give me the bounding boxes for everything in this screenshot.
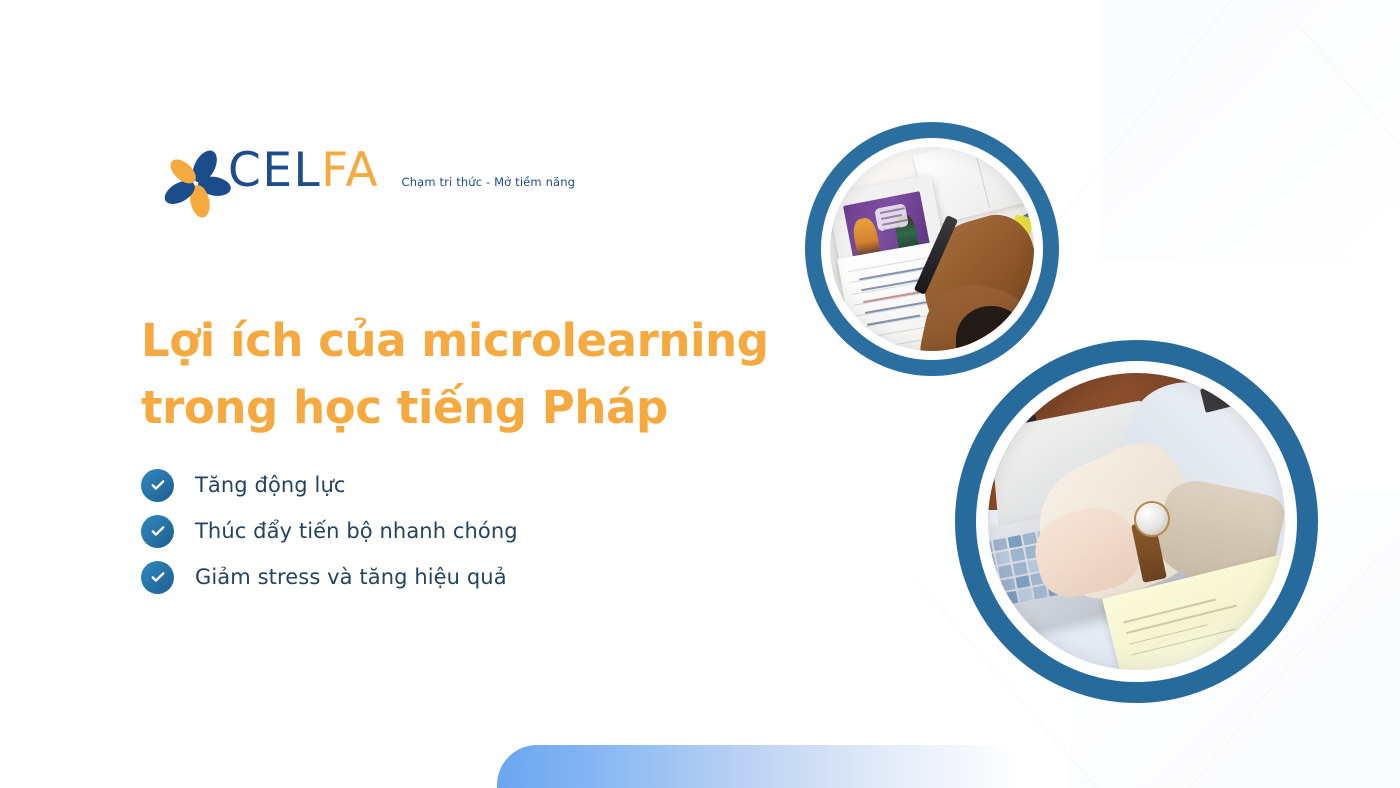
photo-ring	[805, 122, 1059, 376]
benefits-list: Tăng động lực Thúc đẩy tiến bộ nhanh chó…	[141, 462, 518, 600]
list-item: Thúc đẩy tiến bộ nhanh chóng	[141, 508, 518, 554]
page-title-line-2: trong học tiếng Pháp	[141, 375, 781, 442]
photo-ring	[955, 340, 1318, 703]
page-title-line-1: Lợi ích của microlearning	[141, 308, 781, 375]
bottom-gradient-bar	[497, 745, 1022, 788]
check-circle-icon	[141, 561, 174, 594]
photo-image	[988, 373, 1285, 670]
brand-tagline: Chạm tri thức - Mở tiềm năng	[402, 175, 576, 189]
list-item: Giảm stress và tăng hiệu quả	[141, 554, 518, 600]
photo-student-writing-with-tablet	[805, 122, 1059, 376]
crease-line-2	[1247, 0, 1400, 294]
list-item-label: Thúc đẩy tiến bộ nhanh chóng	[195, 519, 518, 543]
celfa-pinwheel-logo-icon	[160, 147, 232, 219]
brand-logo: CELFA Chạm tri thức - Mở tiềm năng	[160, 145, 575, 219]
page-title: Lợi ích của microlearning trong học tiến…	[141, 308, 781, 441]
list-item: Tăng động lực	[141, 462, 518, 508]
slide-canvas: CELFA Chạm tri thức - Mở tiềm năng Lợi í…	[0, 0, 1400, 788]
photo-hands-typing-on-laptop	[955, 340, 1318, 703]
brand-name-part2: FA	[321, 143, 379, 198]
list-item-label: Tăng động lực	[195, 473, 346, 497]
check-circle-icon	[141, 515, 174, 548]
list-item-label: Giảm stress và tăng hiệu quả	[195, 565, 507, 589]
brand-name-part1: CEL	[228, 143, 321, 198]
background-wash-top-right	[1100, 0, 1400, 260]
check-circle-icon	[141, 469, 174, 502]
brand-logo-text: CELFA Chạm tri thức - Mở tiềm năng	[228, 145, 575, 194]
photo-image	[830, 147, 1034, 351]
